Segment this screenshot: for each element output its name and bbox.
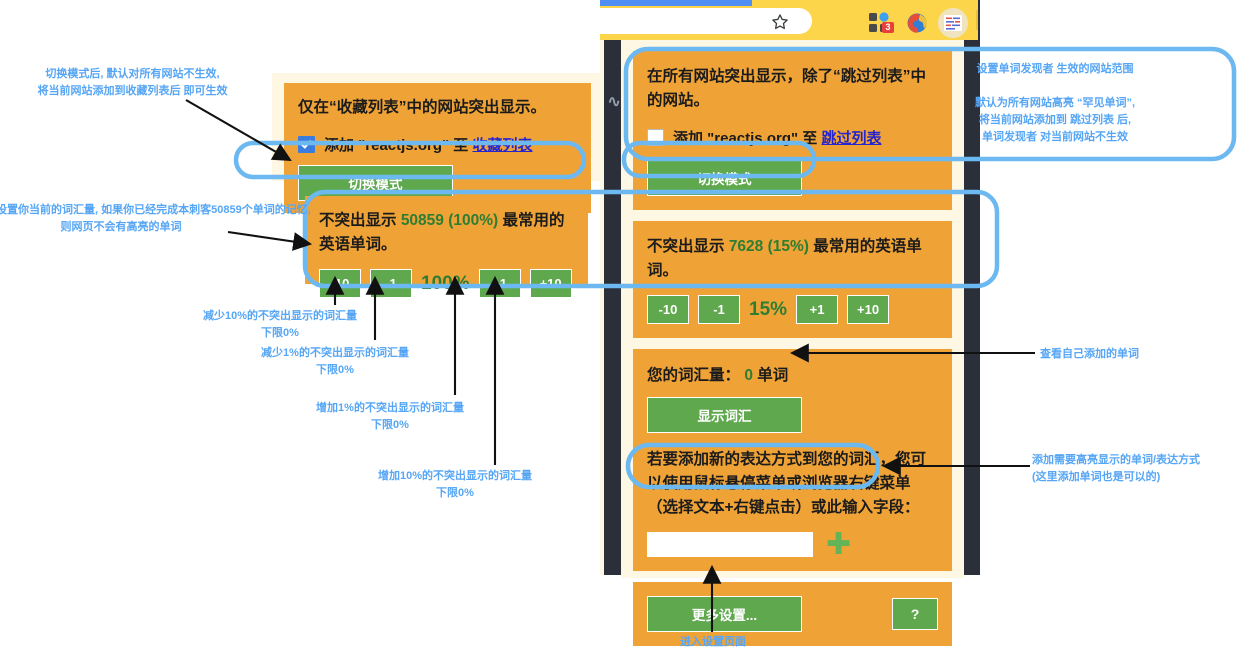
alt-rank-description: 不突出显示 50859 (100%) 最常用的英语单词。 — [319, 209, 574, 257]
rank-text-prefix: 不突出显示 — [647, 238, 729, 255]
anno-show-vocab-right: 查看自己添加的单词 — [1040, 346, 1190, 363]
rank-percent-display: 15% — [749, 299, 787, 321]
page-dark-area-left — [604, 40, 621, 575]
rank-plus-10-button[interactable]: +10 — [847, 295, 889, 324]
vocabulary-unit: 单词 — [757, 367, 788, 384]
rank-word-count: 7628 — [729, 238, 763, 255]
extension-popup-alt-rank: 不突出显示 50859 (100%) 最常用的英语单词。 -10 -1 100%… — [305, 196, 588, 284]
alt-scope-description: 仅在“收藏列表”中的网站突出显示。 — [298, 96, 577, 120]
rank-plus-1-button[interactable]: +1 — [796, 295, 838, 324]
alt-rank-minus-10-button[interactable]: -10 — [319, 269, 361, 298]
more-settings-button[interactable]: 更多设置... — [647, 596, 802, 632]
alt-favorites-link[interactable]: 收藏列表 — [472, 137, 532, 154]
toggle-mode-button[interactable]: 切换模式 — [647, 160, 802, 196]
skip-list-checkbox[interactable] — [647, 129, 664, 146]
scope-description: 在所有网站突出显示，除了“跳过列表”中的网站。 — [647, 65, 938, 113]
anno-plus10: 增加10%的不突出显示的词汇量 下限0% — [355, 468, 555, 502]
browser-toolbar: 3 — [600, 0, 980, 40]
alt-rank-stepper: -10 -1 100% +1 +10 — [319, 269, 574, 298]
vocabulary-help-text: 若要添加新的表达方式到您的词汇，您可以使用鼠标悬停菜单或浏览器右键菜单（选择文本… — [647, 448, 938, 520]
anno-minus10: 减少10%的不突出显示的词汇量 下限0% — [180, 308, 380, 342]
anno-scope-right-body: 默认为所有网站高亮 “罕见单词”, 将当前网站添加到 跳过列表 后, 单词发现者… — [935, 95, 1175, 146]
alt-rank-plus-1-button[interactable]: +1 — [479, 269, 521, 298]
vocabulary-size-line: 您的词汇量： 0 单词 — [647, 363, 938, 385]
globe-extension-icon[interactable] — [906, 12, 928, 34]
anno-add-word-right: 添加需要高亮显示的单词/表达方式 (这里添加单词也是可以的) — [1032, 452, 1232, 486]
tab-strip-edge — [600, 0, 752, 6]
anno-scope-right-title: 设置单词发现者 生效的网站范围 — [935, 61, 1175, 78]
alt-scope-card: 仅在“收藏列表”中的网站突出显示。 添加 "reactjs.org" 至 收藏列… — [284, 83, 591, 213]
anno-minus1: 减少1%的不突出显示的词汇量 下限0% — [235, 345, 435, 379]
extension-popup-alt-scope: 仅在“收藏列表”中的网站突出显示。 添加 "reactjs.org" 至 收藏列… — [272, 73, 603, 181]
window-right-edge — [978, 0, 980, 40]
vocabulary-card: 您的词汇量： 0 单词 显示词汇 若要添加新的表达方式到您的词汇，您可以使用鼠标… — [633, 349, 952, 571]
rank-percent-paren: (15%) — [768, 238, 809, 255]
alt-rank-minus-1-button[interactable]: -1 — [370, 269, 412, 298]
alt-rank-word-count: 50859 — [401, 212, 444, 229]
skip-list-label-prefix: 添加 "reactjs.org" 至 — [673, 130, 821, 147]
rank-description: 不突出显示 7628 (15%) 最常用的英语单词。 — [647, 235, 938, 283]
alt-rank-percent-display: 100% — [421, 273, 470, 295]
extension-popup: 在所有网站突出显示，除了“跳过列表”中的网站。 添加 "reactjs.org"… — [621, 40, 964, 578]
rank-card: 不突出显示 7628 (15%) 最常用的英语单词。 -10 -1 15% +1… — [633, 221, 952, 338]
add-word-row: ✚ — [647, 532, 938, 557]
word-discoverer-icon[interactable] — [938, 8, 968, 38]
alt-favorites-label-prefix: 添加 "reactjs.org" 至 — [324, 137, 472, 154]
add-word-input[interactable] — [647, 532, 813, 557]
vocabulary-count: 0 — [744, 367, 753, 384]
alt-favorites-checkbox-row[interactable]: 添加 "reactjs.org" 至 收藏列表 — [298, 134, 577, 155]
anno-plus1: 增加1%的不突出显示的词汇量 下限0% — [290, 400, 490, 434]
extensions-badge-count: 3 — [882, 22, 894, 33]
vocabulary-size-label: 您的词汇量： — [647, 367, 740, 384]
skip-list-link[interactable]: 跳过列表 — [821, 130, 881, 147]
bookmark-star-icon[interactable] — [770, 12, 790, 32]
rank-minus-1-button[interactable]: -1 — [698, 295, 740, 324]
alt-favorites-checkbox[interactable] — [298, 136, 315, 153]
anno-vocab-size-left: 设置你当前的词汇量, 如果你已经完成本刺客50859个单词的记忆, 则网页不会有… — [0, 202, 246, 236]
alt-favorites-label: 添加 "reactjs.org" 至 收藏列表 — [324, 134, 532, 155]
help-button[interactable]: ? — [892, 598, 938, 630]
alt-rank-text-prefix: 不突出显示 — [319, 212, 401, 229]
skip-list-label: 添加 "reactjs.org" 至 跳过列表 — [673, 127, 881, 148]
show-vocabulary-button[interactable]: 显示词汇 — [647, 397, 802, 433]
anno-more-settings-bottom: 进入设置页面 — [648, 634, 778, 651]
scope-card: 在所有网站突出显示，除了“跳过列表”中的网站。 添加 "reactjs.org"… — [633, 51, 952, 210]
anno-toggle-mode-left: 切换模式后, 默认对所有网站不生效, 将当前网站添加到收藏列表后 即可生效 — [20, 66, 245, 100]
alt-rank-percent-paren: (100%) — [448, 212, 498, 229]
plus-icon[interactable]: ✚ — [826, 534, 851, 556]
rank-stepper: -10 -1 15% +1 +10 — [647, 295, 938, 324]
alt-rank-plus-10-button[interactable]: +10 — [530, 269, 572, 298]
skip-list-checkbox-row[interactable]: 添加 "reactjs.org" 至 跳过列表 — [647, 127, 938, 148]
rank-minus-10-button[interactable]: -10 — [647, 295, 689, 324]
